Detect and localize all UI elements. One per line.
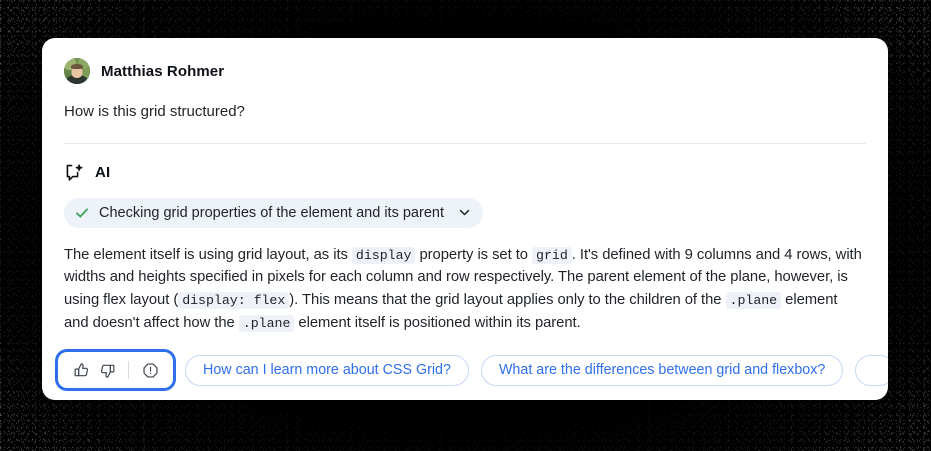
inline-code: .plane: [726, 292, 782, 309]
ai-header: AI: [64, 162, 866, 184]
avatar: [64, 58, 90, 84]
user-header: Matthias Rohmer: [64, 58, 866, 84]
thumbs-down-icon[interactable]: [94, 357, 120, 383]
avatar-hair: [71, 64, 83, 69]
chevron-down-icon[interactable]: [454, 206, 471, 219]
status-pill[interactable]: Checking grid properties of the element …: [64, 198, 483, 228]
feedback-separator: [128, 361, 129, 379]
inline-code: .plane: [239, 315, 295, 332]
suggestion-chip-list: How can I learn more about CSS Grid?What…: [185, 355, 888, 386]
ai-chat-card: Matthias Rohmer How is this grid structu…: [42, 38, 888, 400]
ai-sparkle-bubble-icon: [64, 163, 84, 183]
ai-answer-text: The element itself is using grid layout,…: [64, 244, 866, 335]
ai-message-block: AI Checking grid properties of the eleme…: [42, 144, 888, 335]
inline-code: display: [352, 247, 416, 264]
suggestion-chip[interactable]: [855, 355, 888, 386]
feedback-button-group[interactable]: [58, 352, 173, 388]
thumbs-up-icon[interactable]: [68, 357, 94, 383]
ai-label: AI: [95, 164, 110, 181]
user-message-text: How is this grid structured?: [64, 101, 866, 123]
user-name: Matthias Rohmer: [101, 63, 224, 80]
inline-code: grid: [532, 247, 572, 264]
inline-code: display: flex: [178, 292, 289, 309]
suggestion-chip[interactable]: What are the differences between grid an…: [481, 355, 843, 386]
message-footer: How can I learn more about CSS Grid?What…: [42, 340, 888, 400]
check-icon: [75, 206, 89, 220]
report-alert-octagon-icon[interactable]: [137, 357, 163, 383]
user-message-block: Matthias Rohmer How is this grid structu…: [42, 38, 888, 144]
status-pill-label: Checking grid properties of the element …: [99, 205, 444, 221]
suggestion-chip[interactable]: How can I learn more about CSS Grid?: [185, 355, 469, 386]
